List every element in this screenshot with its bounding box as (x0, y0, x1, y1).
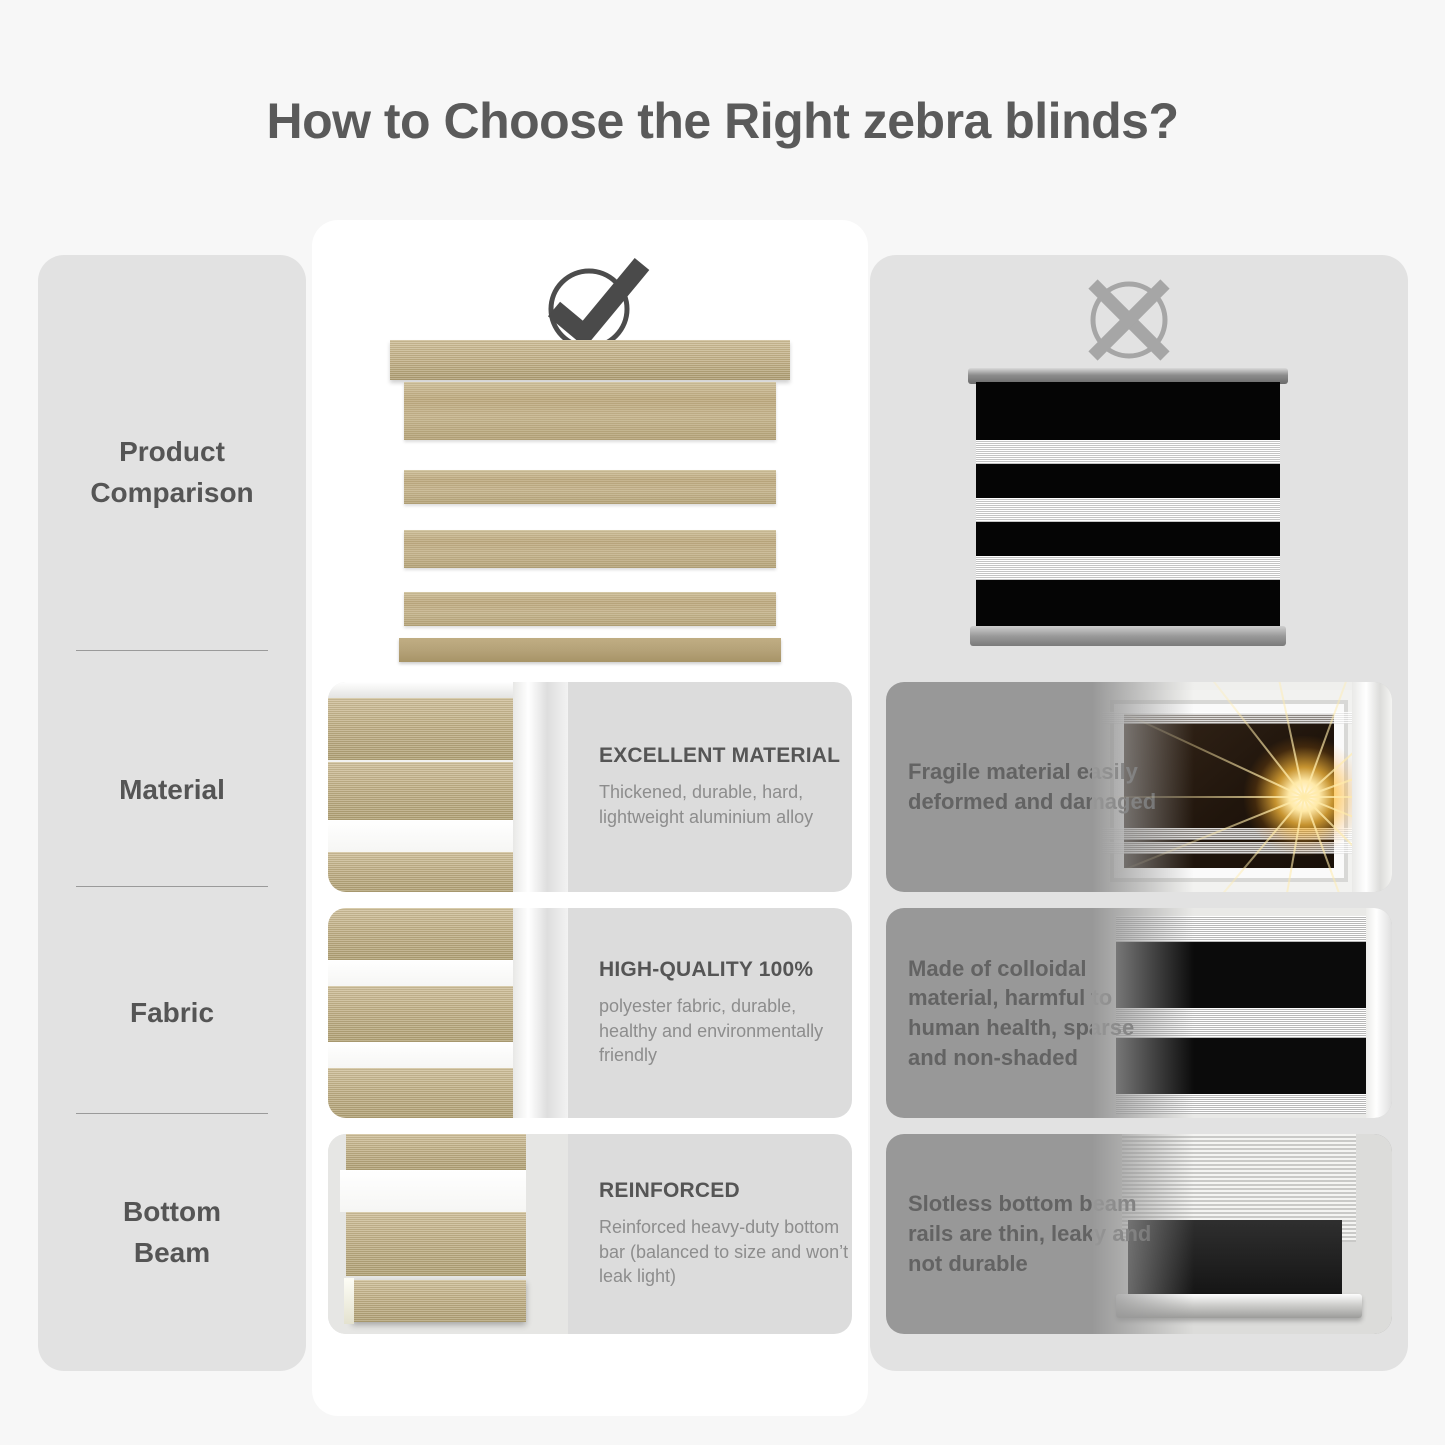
row-label-product-comparison-line2: Comparison (38, 473, 306, 514)
feature-body: Thickened, durable, hard, lightweight al… (599, 780, 851, 830)
bad-feature-card-bottom-beam: Slotless bottom beam rails are thin, lea… (886, 1134, 1392, 1334)
row-label-bottom-beam-line2: Beam (38, 1233, 306, 1274)
row-divider (76, 1113, 268, 1114)
row-label-fabric: Fabric (38, 993, 306, 1034)
blind-body (976, 382, 1280, 626)
good-feature-text-material: EXCELLENT MATERIAL Thickened, durable, h… (571, 682, 852, 892)
good-feature-image-bottom-beam (328, 1134, 568, 1334)
bad-feature-image-fabric (1092, 908, 1392, 1118)
good-feature-image-material (328, 682, 568, 892)
good-feature-card-fabric: HIGH-QUALITY 100% polyester fabric, dura… (328, 908, 852, 1118)
blind-bottom-bar (399, 638, 781, 662)
feature-body: polyester fabric, durable, healthy and e… (599, 994, 851, 1068)
good-feature-text-fabric: HIGH-QUALITY 100% polyester fabric, dura… (571, 908, 852, 1118)
sun-glare-icon (1244, 736, 1364, 856)
page-title: How to Choose the Right zebra blinds? (0, 92, 1445, 150)
row-divider (76, 650, 268, 651)
row-label-product-comparison-line1: Product (38, 432, 306, 473)
good-feature-image-fabric (328, 908, 568, 1118)
bad-feature-card-material: Fragile material easily deformed and dam… (886, 682, 1392, 892)
blind-stripe (976, 556, 1280, 580)
row-label-bottom-beam: Bottom Beam (38, 1192, 306, 1273)
blind-bottom-bar (970, 626, 1286, 646)
row-label-material: Material (38, 770, 306, 811)
row-label-bottom-beam-line1: Bottom (38, 1192, 306, 1233)
good-hero-blind-image (390, 340, 790, 662)
blind-stripe (976, 498, 1280, 522)
bad-hero-blind-image (968, 368, 1288, 646)
blind-slat (404, 470, 776, 504)
feature-body: Reinforced heavy-duty bottom bar (balanc… (599, 1215, 851, 1289)
blind-headrail (390, 340, 790, 380)
bad-feature-image-bottom-beam (1092, 1134, 1392, 1334)
blind-slat (404, 530, 776, 568)
row-divider (76, 886, 268, 887)
good-feature-text-bottom-beam: REINFORCED Reinforced heavy-duty bottom … (571, 1134, 852, 1334)
good-feature-card-bottom-beam: REINFORCED Reinforced heavy-duty bottom … (328, 1134, 852, 1334)
blind-slat (404, 382, 776, 440)
feature-title: REINFORCED (599, 1179, 852, 1203)
check-circle-icon (538, 252, 658, 354)
feature-title: HIGH-QUALITY 100% (599, 958, 852, 982)
good-feature-card-material: EXCELLENT MATERIAL Thickened, durable, h… (328, 682, 852, 892)
bad-feature-image-material (1092, 682, 1392, 892)
blind-slat (404, 592, 776, 626)
feature-title: EXCELLENT MATERIAL (599, 744, 852, 768)
bad-feature-card-fabric: Made of colloidal material, harmful to h… (886, 908, 1392, 1118)
cross-circle-icon (1080, 272, 1178, 368)
blind-stripe (976, 440, 1280, 464)
row-label-product-comparison: Product Comparison (38, 432, 306, 513)
